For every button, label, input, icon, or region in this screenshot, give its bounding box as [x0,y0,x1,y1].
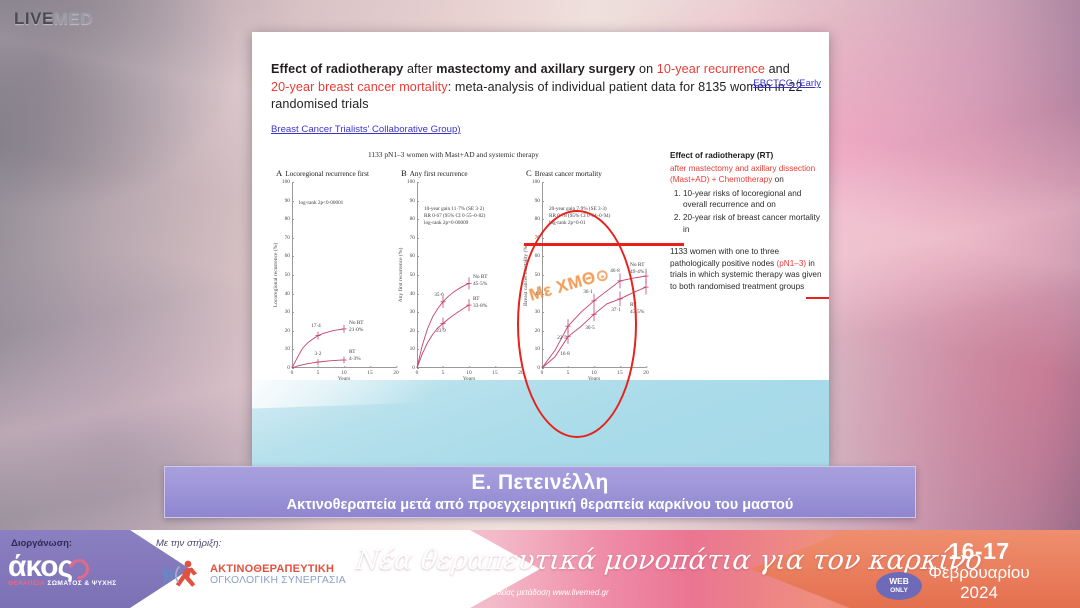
panel-b-series-nort-value: 45·5% [473,281,487,287]
panel-a-ytick: 60 [285,253,292,259]
panel-c-xtick: 5 [567,368,570,376]
panel-a-ytick: 90 [285,198,292,204]
panel-a-series-rt: RT 4·3% [349,349,361,362]
panel-b-xtick: 10 [466,368,471,376]
panel-a-series-nort-name: No RT [349,320,364,326]
event-date-year: 2024 [904,583,1054,603]
panel-c-series-rt: RT 43·5% [630,302,644,315]
panel-a-ytick: 50 [285,272,292,278]
panel-b-y-label: Any first recurrence (%) [398,248,404,303]
panel-b-xtick: 15 [492,368,497,376]
commentary-para-red: (pN1–3) [777,259,807,268]
panel-b-ytick: 80 [410,216,417,222]
panel-a-xtick: 10 [341,368,346,376]
akos-wordmark: άκος [8,552,117,582]
livemed-logo: LIVEMED [14,9,93,29]
speaker-name: Ε. Πετεινέλλη [165,471,915,495]
panel-c-ytick: 50 [535,272,542,278]
slide-title-part-2: after [403,62,436,76]
panel-b-ytick: 90 [410,198,417,204]
panel-b-series-rt-value: 33·8% [473,303,487,309]
commentary-list-item: 10-year risks of locoregional and overal… [683,188,822,211]
panel-a-mid-label-rt: 3·2 [315,351,322,357]
panel-a-xtick: 0 [291,368,294,376]
livemed-logo-med: MED [54,9,93,28]
panel-b-series-nort: No RT 45·5% [473,274,488,287]
panel-c-series-rt-name: RT [630,302,637,308]
panel-b-series-rt: RT 33·8% [473,296,487,309]
panel-a-title: Locoregional recurrence first [285,170,369,178]
panel-a-mid-label-nort: 17·4 [311,323,321,329]
panel-b-ytick: 70 [410,235,417,241]
panel-a-series-rt-value: 4·3% [349,356,361,362]
panel-a-xtick: 15 [367,368,372,376]
panel-c-label-nort-3: 46·8 [610,268,620,274]
panel-b-xtick: 5 [442,368,445,376]
slide-title-part-7: 20-year breast cancer mortality [271,80,448,94]
aktino-logo: ΑΚΤΙΝΟΘΕΡΑΠΕΥΤΙΚΗ ΟΓΚΟΛΟΓΙΚΗ ΣΥΝΕΡΓΑΣΙΑ [160,558,346,592]
panel-c-ytick: 10 [535,346,542,352]
akos-wordmark-text: άκος [8,550,72,583]
commentary-header: Effect of radiotherapy (RT) [670,150,822,162]
panel-a-series-nort: No RT 21·0% [349,320,364,333]
panel-c-ytick: 20 [535,328,542,334]
panel-a-plot-area: Locoregional recurrence (%) Years 100 90… [292,182,396,368]
panel-b-ytick: 20 [410,328,417,334]
commentary-panel: Effect of radiotherapy (RT) after mastec… [670,150,822,293]
panel-b-title: Any first recurrence [410,170,468,178]
event-script-title: Νέα θεραπευτικά μονοπάτια για τον καρκίν… [354,544,748,578]
panel-a-ytick: 20 [285,328,292,334]
figure-three-panel: 1133 pN1–3 women with Mast+AD and system… [270,150,670,442]
organiser-kicker: Διοργάνωση: [11,538,72,549]
commentary-red-line: after mastectomy and axillary dissection… [670,164,815,185]
figure-heading: 1133 pN1–3 women with Mast+AD and system… [368,150,539,159]
livemed-logo-live: LIVE [14,9,54,28]
panel-c-series-nort: No RT 49·4% [630,262,645,275]
panel-a-ytick: 70 [285,235,292,241]
panel-c-x-label: Years [588,376,600,382]
panel-b-series-rt-name: RT [473,296,480,302]
ebctcg-citation-link-cont[interactable]: Breast Cancer Trialists' Collaborative G… [271,124,461,135]
aktino-line-1: ΑΚΤΙΝΟΘΕΡΑΠΕΥΤΙΚΗ [210,564,346,575]
panel-c-y-label: Breast cancer mortality (%) [523,244,529,306]
panel-b-x-label: Years [463,376,475,382]
panel-a-series-nort-value: 21·0% [349,327,363,333]
slide-title-part-5: 10-year recurrence [657,62,765,76]
panel-c-letter: C [526,168,532,178]
panel-a-ytick: 40 [285,291,292,297]
red-annotation-line [524,243,684,246]
panel-c-ytick: 80 [535,216,542,222]
panel-c-ytick: 100 [532,179,542,185]
panel-a-curves [292,182,396,368]
panel-a-ytick: 30 [285,309,292,315]
panel-b-letter: B [401,168,407,178]
panel-a-letter: A [276,168,282,178]
panel-a-y-label: Locoregional recurrence (%) [273,243,279,308]
panel-c-xtick: 10 [591,368,596,376]
panel-c-ytick: 30 [535,309,542,315]
ebctcg-citation-link[interactable]: EBCTCG (Early [753,78,821,89]
panel-c-xtick: 15 [617,368,622,376]
panel-c-series-nort-value: 49·4% [630,269,644,275]
aktino-line-2: ΟΓΚΟΛΟΓΙΚΗ ΣΥΝΕΡΓΑΣΙΑ [210,575,346,586]
panel-b-series-nort-name: No RT [473,274,488,280]
event-footer-bar: Διοργάνωση: Με την στήριξη: άκος ΘΕΡΑΠΕΙ… [0,530,1080,608]
commentary-list: 10-year risks of locoregional and overal… [670,188,822,235]
panel-b-ytick: 40 [410,291,417,297]
panel-a-series-rt-name: RT [349,349,356,355]
panel-b-ytick: 50 [410,272,417,278]
chart-panel-b-label: BAny first recurrence [401,168,468,178]
commentary-list-item: 20-year risk of breast cancer mortality … [683,212,822,235]
akos-tagline: ΘΕΡΑΠΕΙΑ ΣΩΜΑΤΟΣ & ΨΥΧΗΣ [8,580,117,587]
slide-title-part-3: mastectomy and axillary surgery [436,62,635,76]
panel-c-label-rt-1: 16·8 [560,351,570,357]
panel-b-mid-label-rt: 23·9 [436,328,446,334]
panel-b-plot-area: Any first recurrence (%) Years 100 90 80… [417,182,521,368]
panel-a-ytick: 100 [282,179,292,185]
commentary-paragraph: 1133 women with one to three pathologica… [670,246,822,292]
presentation-slide: Effect of radiotherapy after mastectomy … [252,32,829,466]
commentary-para-a: 1133 women with one to three pathologica… [670,247,779,268]
panel-b-curves [417,182,521,368]
panel-c-title: Breast cancer mortality [535,170,602,178]
panel-c-series-nort-name: No RT [630,262,645,268]
panel-b-xtick: 0 [416,368,419,376]
panel-c-xtick: 0 [541,368,544,376]
akos-logo: άκος ΘΕΡΑΠΕΙΑ ΣΩΜΑΤΟΣ & ΨΥΧΗΣ [8,552,117,587]
akos-tagline-white: ΣΩΜΑΤΟΣ & ΨΥΧΗΣ [45,580,116,587]
akos-tagline-pink: ΘΕΡΑΠΕΙΑ [8,580,45,587]
live-broadcast-note: Απευθείας μετάδοση www.livemed.gr [478,588,609,597]
panel-c-series-rt-value: 43·5% [630,309,644,315]
panel-c-ytick: 60 [535,253,542,259]
slide-title: Effect of radiotherapy after mastectomy … [271,61,809,114]
slide-title-part-4: on [635,62,656,76]
red-annotation-underline [806,297,829,299]
panel-a-ytick: 80 [285,216,292,222]
panel-b-ytick: 30 [410,309,417,315]
talk-title: Ακτινοθεραπεία μετά από προεγχειρητική θ… [165,495,915,515]
commentary-on-word: on [772,175,783,184]
panel-c-ytick: 70 [535,235,542,241]
panel-a-ytick: 10 [285,346,292,352]
speaker-banner: Ε. Πετεινέλλη Ακτινοθεραπεία μετά από πρ… [164,466,916,518]
panel-b-ytick: 10 [410,346,417,352]
panel-c-label-rt-2: 30·5 [585,325,595,331]
chart-panel-a: ALocoregional recurrence first Locoregio… [270,168,401,413]
slide-title-part-6: and [765,62,790,76]
chart-panel-b: BAny first recurrence Any first recurren… [395,168,526,413]
panel-c-xtick: 20 [643,368,648,376]
chart-panel-a-label: ALocoregional recurrence first [276,168,369,178]
panel-c-label-nort-1: 22·5 [557,335,567,341]
event-date-month: Φεβρουαρίου [904,563,1054,583]
event-date: 16-17 Φεβρουαρίου 2024 [904,539,1054,603]
panel-c-ytick: 90 [535,198,542,204]
support-kicker: Με την στήριξη: [156,538,221,549]
panel-a-x-label: Years [338,376,350,382]
chart-panel-c-label: CBreast cancer mortality [526,168,602,178]
panel-b-mid-label-nort: 35·6 [434,292,444,298]
slide-title-part-1: Effect of radiotherapy [271,62,403,76]
event-date-days: 16-17 [904,539,1054,563]
aktino-runner-icon [160,558,206,592]
panel-a-xtick: 5 [317,368,320,376]
panel-b-ytick: 60 [410,253,417,259]
panel-b-ytick: 100 [407,179,417,185]
aktino-wordmark: ΑΚΤΙΝΟΘΕΡΑΠΕΥΤΙΚΗ ΟΓΚΟΛΟΓΙΚΗ ΣΥΝΕΡΓΑΣΙΑ [210,564,346,586]
panel-c-label-rt-3: 37·1 [611,307,621,313]
